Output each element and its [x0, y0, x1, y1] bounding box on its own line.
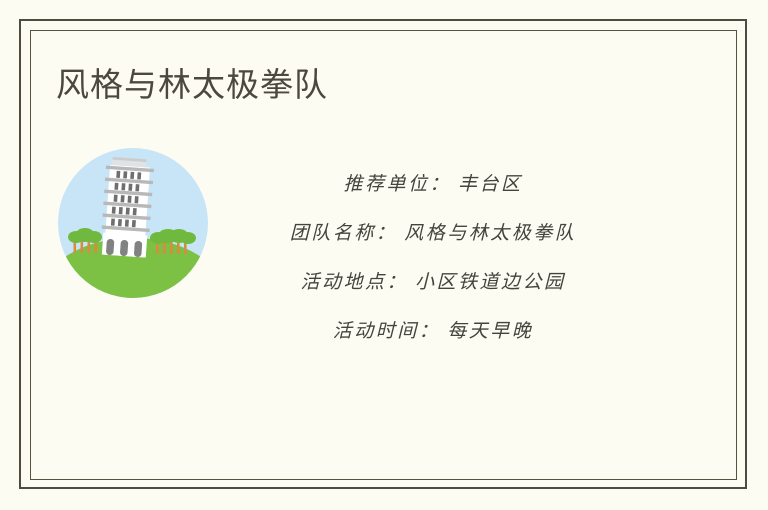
team-name-label: 团队名称： — [290, 222, 398, 244]
team-name-value: 风格与林太极拳队 — [404, 222, 576, 244]
team-info-card: 风格与林太极拳队 — [0, 0, 768, 510]
activity-location-value: 小区铁道边公园 — [415, 271, 566, 293]
page-title: 风格与林太极拳队 — [56, 63, 328, 107]
list-item: 活动时间：每天早晚 — [228, 307, 638, 356]
list-item: 团队名称：风格与林太极拳队 — [228, 209, 638, 258]
team-details-list: 推荐单位：丰台区 团队名称：风格与林太极拳队 活动地点：小区铁道边公园 活动时间… — [228, 160, 638, 356]
activity-time-value: 每天早晚 — [447, 320, 533, 342]
activity-location-label: 活动地点： — [300, 271, 408, 293]
list-item: 推荐单位：丰台区 — [228, 160, 638, 209]
recommend-unit-label: 推荐单位： — [343, 173, 451, 195]
leaning-tower-of-pisa-icon — [58, 148, 208, 298]
recommend-unit-value: 丰台区 — [458, 173, 523, 195]
activity-time-label: 活动时间： — [333, 320, 441, 342]
list-item: 活动地点：小区铁道边公园 — [228, 258, 638, 307]
